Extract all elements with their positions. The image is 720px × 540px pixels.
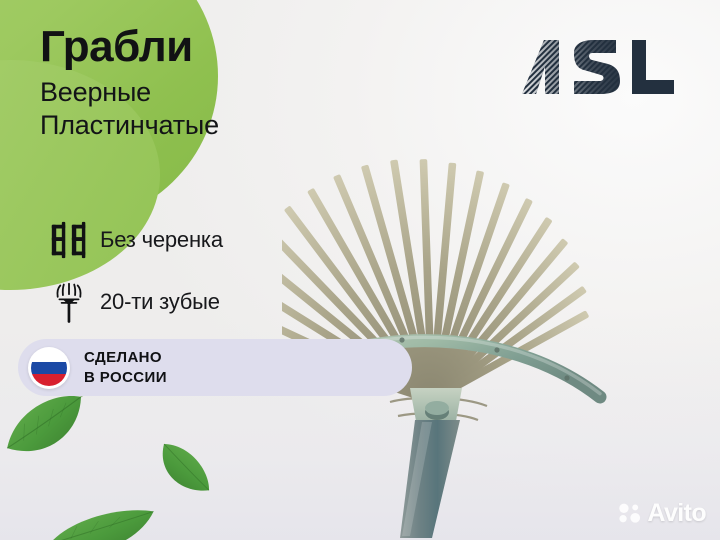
product-title: Грабли — [40, 24, 219, 70]
product-subtitle: Веерные Пластинчатые — [40, 76, 219, 142]
feature-list: Без черенка 20-т — [38, 212, 223, 330]
made-in-russia-badge: СДЕЛАНО В РОССИИ — [18, 339, 412, 396]
subtitle-line-2: Пластинчатые — [40, 109, 219, 142]
avito-wordmark: Avito — [647, 499, 706, 528]
feature-label: Без черенка — [100, 227, 223, 253]
asl-logo — [518, 34, 678, 100]
leaf-decorations — [0, 396, 280, 540]
asl-logo-icon — [518, 34, 678, 100]
feature-label: 20-ти зубые — [100, 289, 220, 315]
advertisement-canvas: Грабли Веерные Пластинчатые — [0, 0, 720, 540]
avito-dots-icon — [617, 502, 643, 525]
avito-watermark: Avito — [617, 499, 706, 528]
feature-row: Без черенка — [38, 212, 223, 268]
russian-flag-icon — [28, 347, 70, 389]
headline-block: Грабли Веерные Пластинчатые — [40, 24, 219, 142]
feature-row: 20-ти зубые — [38, 274, 223, 330]
fan-rake-icon — [38, 278, 100, 326]
green-leaf-icon — [46, 507, 158, 540]
green-leaf-icon — [0, 396, 102, 459]
rake-head-no-handle-icon — [38, 219, 100, 261]
flag-stripe-blue — [31, 362, 67, 374]
made-in-russia-text: СДЕЛАНО В РОССИИ — [84, 348, 167, 388]
subtitle-line-1: Веерные — [40, 76, 219, 109]
flag-stripe-red — [31, 374, 67, 386]
badge-line-2: В РОССИИ — [84, 368, 167, 388]
green-leaf-icon — [155, 433, 213, 503]
flag-stripe-white — [31, 350, 67, 362]
badge-line-1: СДЕЛАНО — [84, 348, 167, 368]
